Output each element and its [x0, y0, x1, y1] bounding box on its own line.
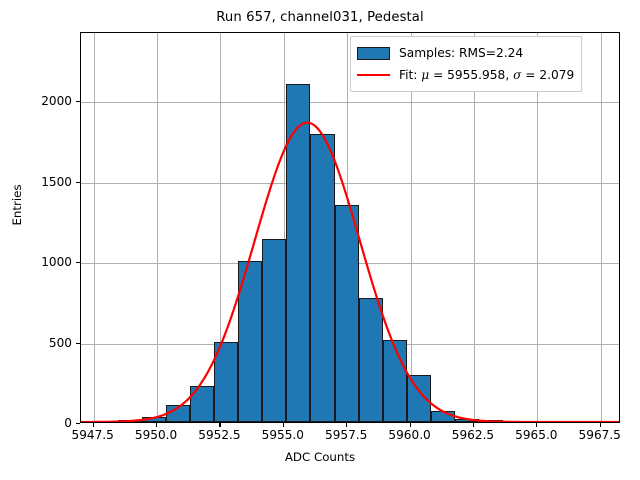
x-tick-label: 5960.0 [388, 428, 430, 442]
x-tick-label: 5962.5 [452, 428, 494, 442]
x-tick-label: 5950.0 [135, 428, 177, 442]
x-tick-mark-2 [219, 423, 220, 427]
x-tick-label: 5965.0 [515, 428, 557, 442]
chart-legend: Samples: RMS=2.24 Fit: μ = 5955.958, σ =… [350, 36, 582, 92]
legend-label-samples: Samples: RMS=2.24 [399, 46, 523, 60]
y-tick-mark-0 [76, 423, 80, 424]
legend-item-fit[interactable]: Fit: μ = 5955.958, σ = 2.079 [357, 64, 574, 86]
y-tick-mark-4 [76, 101, 80, 102]
x-tick-mark-1 [156, 423, 157, 427]
x-tick-mark-8 [600, 423, 601, 427]
y-tick-label: 500 [49, 336, 72, 350]
x-tick-mark-4 [346, 423, 347, 427]
y-tick-label: 1500 [41, 175, 72, 189]
x-tick-mark-7 [536, 423, 537, 427]
x-tick-mark-5 [410, 423, 411, 427]
x-tick-mark-6 [473, 423, 474, 427]
y-tick-label: 2000 [41, 94, 72, 108]
x-tick-label: 5955.0 [262, 428, 304, 442]
y-tick-mark-2 [76, 262, 80, 263]
x-tick-mark-0 [93, 423, 94, 427]
legend-item-samples[interactable]: Samples: RMS=2.24 [357, 42, 574, 64]
chart-title: Run 657, channel031, Pedestal [0, 10, 640, 25]
legend-swatch-fit-icon [357, 74, 390, 76]
legend-swatch-samples-icon [357, 47, 390, 60]
y-axis-label: Entries [10, 115, 24, 295]
legend-label-fit: Fit: μ = 5955.958, σ = 2.079 [399, 68, 574, 82]
x-tick-label: 5957.5 [325, 428, 367, 442]
x-tick-label: 5952.5 [198, 428, 240, 442]
x-tick-label: 5967.5 [579, 428, 621, 442]
x-tick-mark-3 [283, 423, 284, 427]
x-tick-label: 5947.5 [72, 428, 114, 442]
mu-symbol: μ [421, 68, 429, 82]
y-tick-label: 0 [64, 416, 72, 430]
chart-figure: Run 657, channel031, Pedestal 5947.55950… [0, 0, 640, 480]
x-axis-label: ADC Counts [0, 450, 640, 464]
y-tick-mark-3 [76, 182, 80, 183]
y-tick-mark-1 [76, 343, 80, 344]
y-tick-label: 1000 [41, 255, 72, 269]
